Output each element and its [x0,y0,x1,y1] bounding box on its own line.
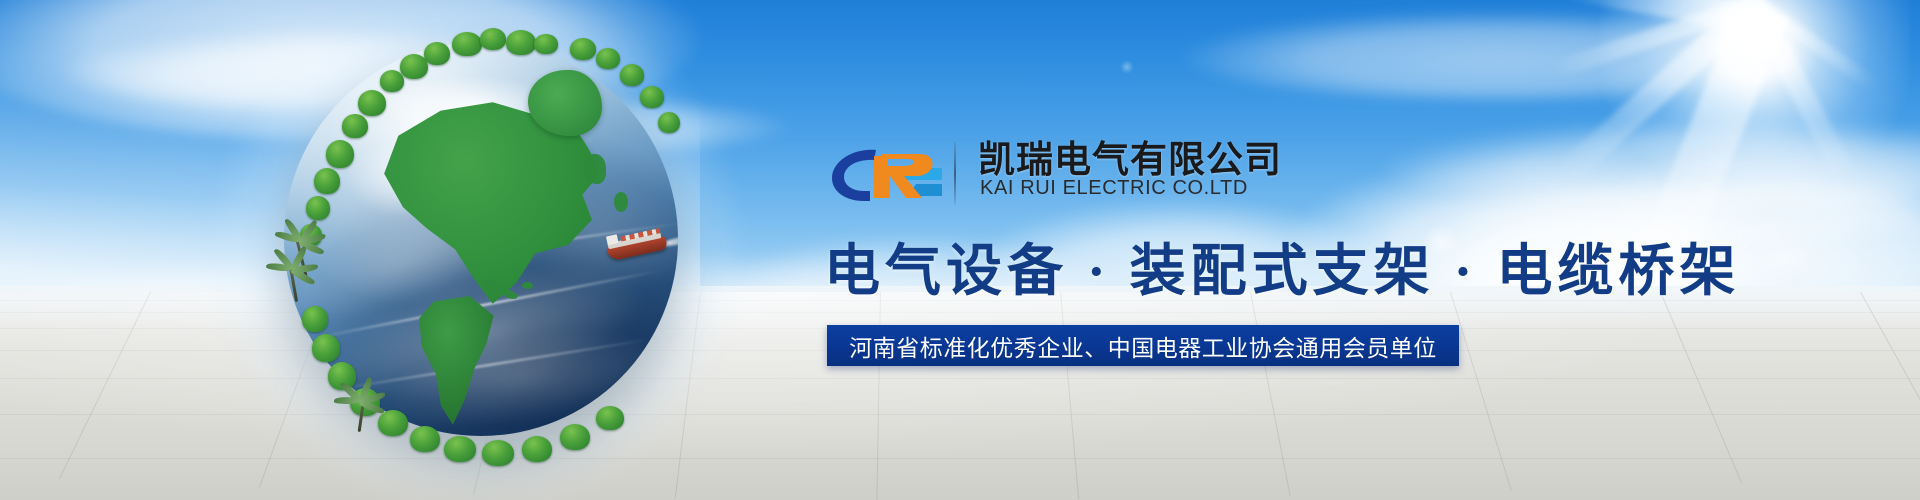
credentials-ribbon-text: 河南省标准化优秀企业、中国电器工业协会通用会员单位 [849,329,1437,363]
lens-flare-icon [1120,60,1134,74]
credentials-ribbon: 河南省标准化优秀企业、中国电器工业协会通用会员单位 [827,325,1459,366]
company-name-en: KAI RUI ELECTRIC CO.LTD [980,177,1248,200]
green-earth-globe-icon [262,28,692,458]
logo-divider [954,142,956,204]
hero-banner: 凯瑞电气有限公司 KAI RUI ELECTRIC CO.LTD 电气设备 · … [0,0,1920,500]
headline-text: 电气设备 · 装配式支架 · 电缆桥架 [824,226,1740,307]
cr-monogram-logo-icon [830,146,948,202]
company-name-cn: 凯瑞电气有限公司 [978,129,1282,183]
